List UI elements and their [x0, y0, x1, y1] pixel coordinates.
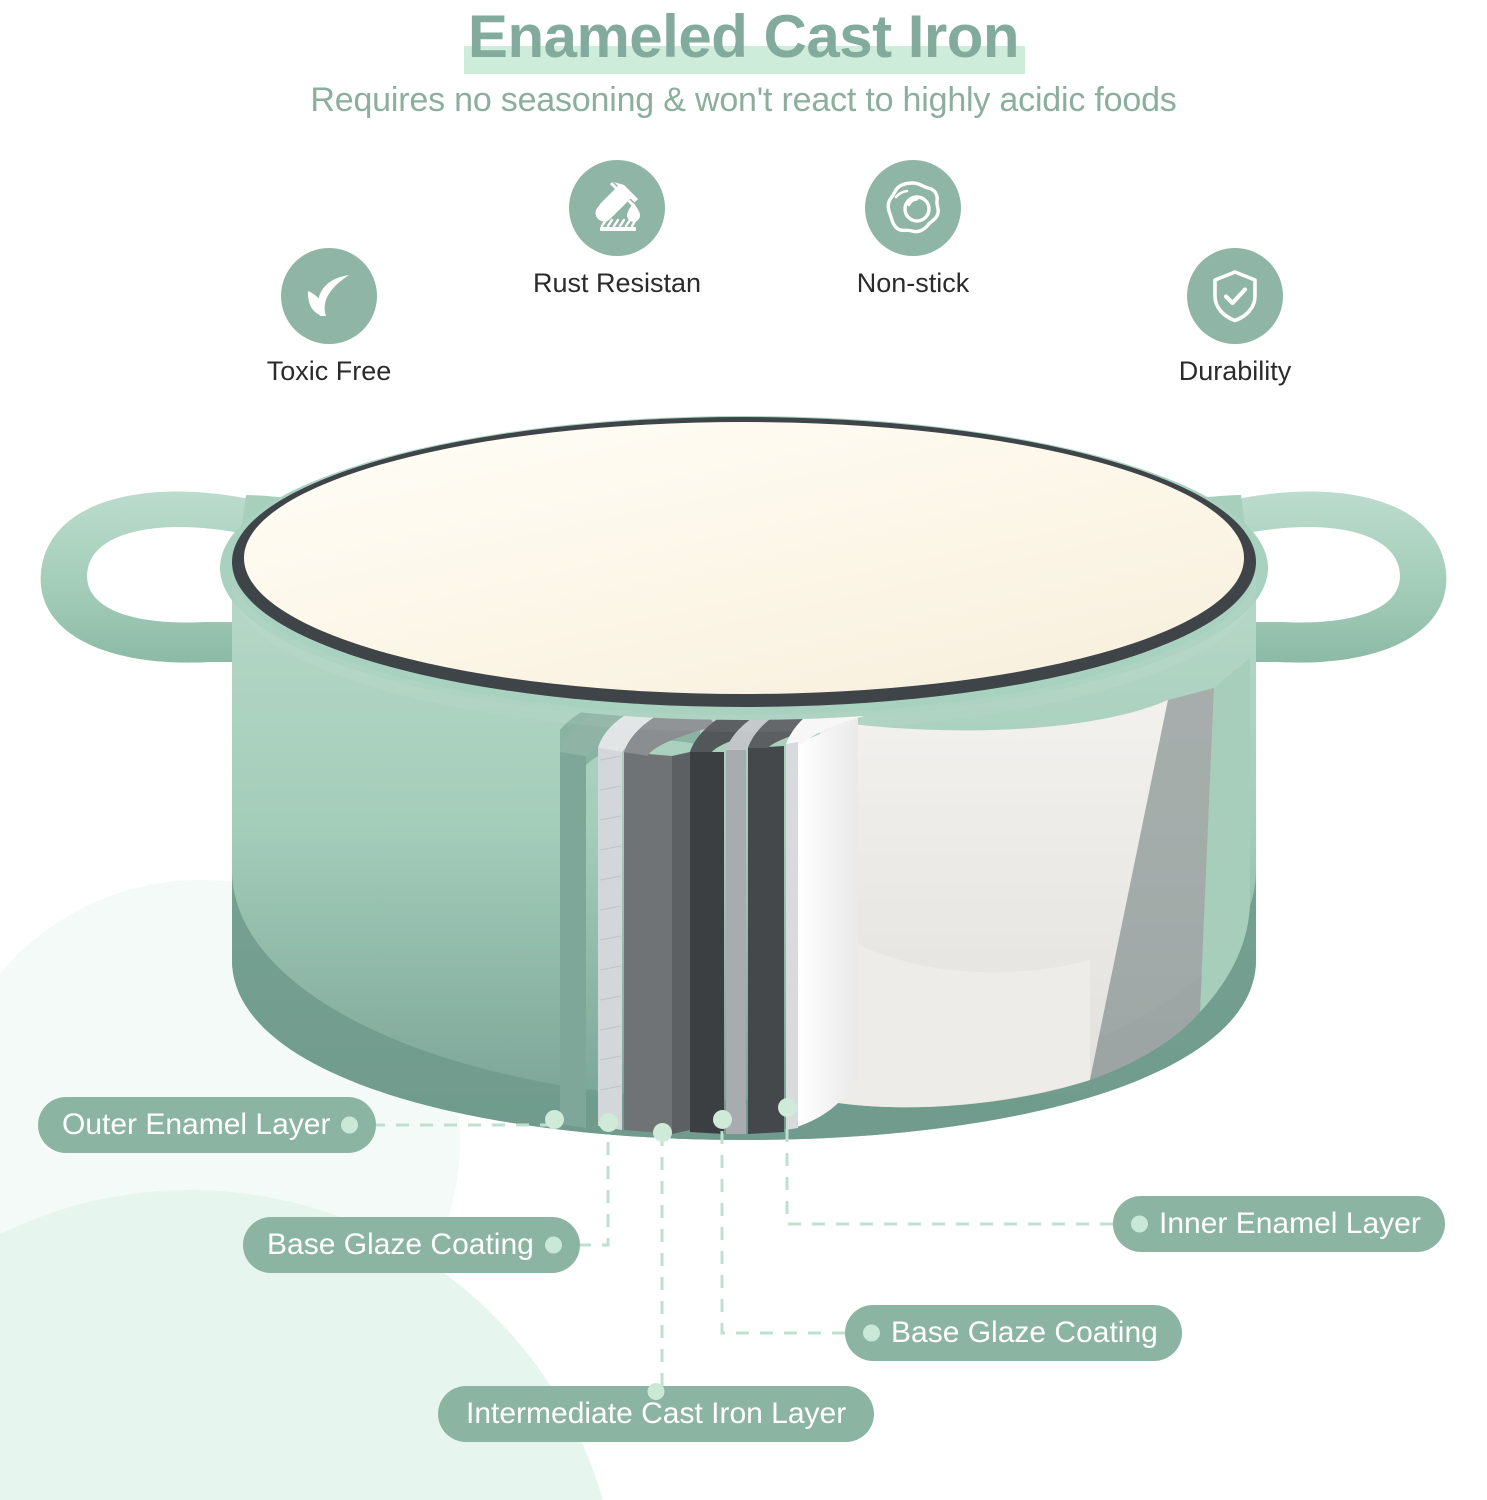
callout-label: Base Glaze Coating — [267, 1228, 534, 1262]
pot-interior-surface — [244, 422, 1244, 694]
anchor-dot-base-glaze-left — [599, 1113, 618, 1132]
callout-label: Outer Enamel Layer — [62, 1108, 330, 1142]
callout-connector-dot — [341, 1117, 358, 1134]
callout-connector-dot — [863, 1325, 880, 1342]
page-subtitle: Requires no seasoning & won't react to h… — [0, 81, 1487, 120]
feature-label: Rust Resistan — [502, 268, 732, 299]
callout-base-glaze-coating-right: Base Glaze Coating — [845, 1305, 1182, 1361]
layer-cross-section — [560, 690, 872, 1134]
feature-durability: Durability — [1120, 248, 1350, 387]
leaves-icon — [281, 248, 377, 344]
feature-label: Durability — [1120, 356, 1350, 387]
anchor-dot-outer-enamel — [545, 1110, 564, 1129]
callout-inner-enamel-layer: Inner Enamel Layer — [1113, 1196, 1445, 1252]
callout-intermediate-cast-iron-layer: Intermediate Cast Iron Layer — [438, 1386, 874, 1442]
anchor-dot-inner-enamel — [778, 1098, 797, 1117]
callout-label: Base Glaze Coating — [891, 1316, 1158, 1350]
feature-non-stick: Non-stick — [798, 160, 1028, 299]
feature-rust-resistan: Rust Resistan — [502, 160, 732, 299]
callout-label: Inner Enamel Layer — [1159, 1207, 1421, 1241]
callout-label: Intermediate Cast Iron Layer — [466, 1397, 846, 1431]
callout-outer-enamel-layer: Outer Enamel Layer — [38, 1097, 376, 1153]
shield-check-icon — [1187, 248, 1283, 344]
fried-egg-icon — [865, 160, 961, 256]
infographic-canvas: Enameled Cast Iron Requires no seasoning… — [0, 0, 1487, 1500]
callout-connector-dot — [545, 1237, 562, 1254]
product-illustration-dutch-oven — [0, 400, 1487, 1160]
title-wrapper: Enameled Cast Iron — [456, 2, 1031, 73]
feature-label: Non-stick — [798, 268, 1028, 299]
anchor-dot-cast-iron — [653, 1123, 672, 1142]
feature-toxic-free: Toxic Free — [214, 248, 444, 387]
callout-connector-dot — [648, 1383, 665, 1400]
feature-label: Toxic Free — [214, 356, 444, 387]
page-title: Enameled Cast Iron — [456, 2, 1031, 73]
callout-connector-dot — [1131, 1216, 1148, 1233]
test-tube-droplet-icon — [569, 160, 665, 256]
callout-base-glaze-coating-left: Base Glaze Coating — [243, 1217, 580, 1273]
anchor-dot-base-glaze-right — [713, 1110, 732, 1129]
header: Enameled Cast Iron Requires no seasoning… — [0, 0, 1487, 120]
